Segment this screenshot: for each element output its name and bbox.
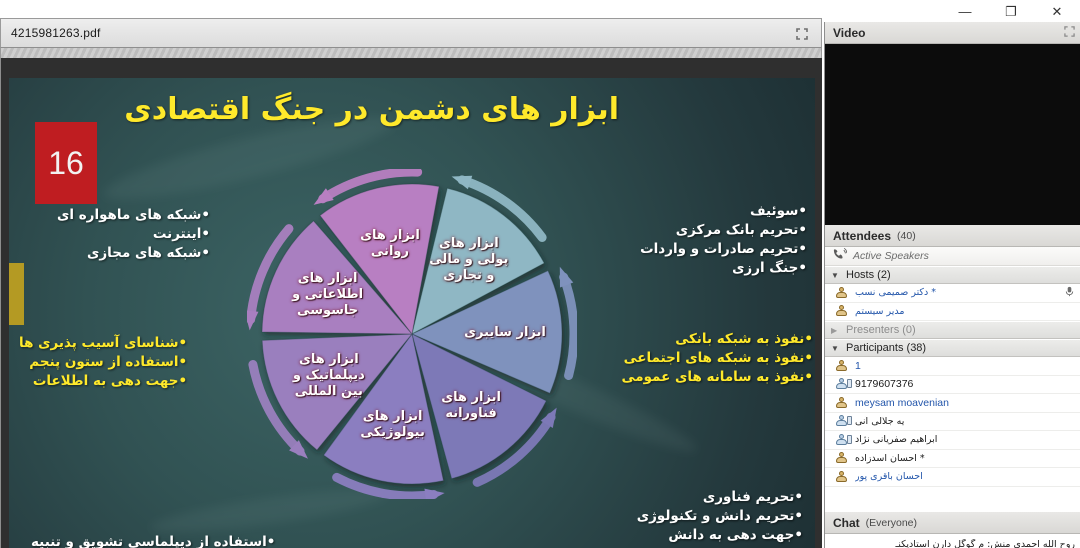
pdf-viewport: 16 ابزار های دشمن در جنگ اقتصادی •سوئیف … [0, 58, 822, 548]
active-speakers-icon [833, 248, 847, 264]
note-line: •نفوذ به سامانه های عمومی [622, 368, 813, 387]
slide-title: ابزار های دشمن در جنگ اقتصادی [199, 92, 619, 127]
wheel-arrow-head [247, 310, 258, 330]
active-speakers-label: Active Speakers [853, 250, 929, 262]
chat-pod-header: Chat (Everyone) [825, 512, 1080, 534]
note-bottom-right: •تحریم فناوری •تحریم دانش و تکنولوژی •جه… [637, 488, 803, 545]
note-middle-right: •نفوذ به شبکه بانکی •نفوذ به شبکه های اج… [622, 330, 813, 387]
pdf-filename: 4215981263.pdf [1, 26, 101, 40]
active-speakers-row[interactable]: Active Speakers [825, 247, 1080, 266]
participant-icon [835, 452, 848, 464]
wheel-segment-label: ابزار هایبیولوژیکی [347, 409, 439, 441]
note-top-left: •شبکه های ماهواره ای •اینترنت •شبکه های … [57, 206, 210, 263]
attendee-group-label: Presenters (0) [846, 324, 916, 336]
participant-icon [835, 397, 848, 409]
wheel-segment-label: ابزار هایروانی [344, 228, 436, 260]
wheel-segment-label: ابزار هایپولی و مالیو تجاری [423, 236, 515, 284]
note-line: •تحریم صادرات و واردات [640, 240, 807, 259]
host-icon [835, 305, 848, 317]
note-line: •استفاده از ستون پنجم [19, 353, 187, 372]
note-line: •شبکه های ماهواره ای [57, 206, 210, 225]
note-bottom-left: •استفاده از دیپلماسی تشویق و تنبیه •وادا… [31, 533, 275, 548]
attendee-row[interactable]: احسان باقری پور [825, 468, 1080, 487]
attendee-name: 9179607376 [855, 378, 913, 390]
slide-page-badge: 16 [35, 122, 97, 204]
video-stage[interactable] [825, 44, 1080, 225]
note-middle-left: •شناسای آسیب پذیری ها •استفاده از ستون پ… [19, 334, 187, 391]
participant-icon [835, 471, 848, 483]
slide-canvas: 16 ابزار های دشمن در جنگ اقتصادی •سوئیف … [9, 78, 815, 548]
note-top-right: •سوئیف •تحریم بانک مرکزی •تحریم صادرات و… [640, 202, 807, 278]
note-line: •تحریم فناوری [637, 488, 803, 507]
attendee-group-header-hosts[interactable]: ▼Hosts (2) [825, 266, 1080, 284]
wheel-arrow-head [560, 267, 573, 288]
note-line: •تحریم بانک مرکزی [640, 221, 807, 240]
note-line: •شناسای آسیب پذیری ها [19, 334, 187, 353]
wheel-segment-label: ابزار هایفناورانه [425, 390, 517, 422]
attendee-row[interactable]: ابراهیم صفریانی نژاد [825, 431, 1080, 450]
attendee-row[interactable]: * احسان اسدزاده [825, 450, 1080, 469]
chevron-right-icon[interactable]: ▶ [831, 326, 840, 335]
chat-pod-title: Chat [833, 516, 860, 530]
application-root: — ❐ ✕ 4215981263.pdf 16 ابزار های دشمن د… [0, 0, 1080, 548]
attendee-name: مدیر سیستم [855, 306, 904, 317]
attendees-list[interactable]: Active Speakers ▼Hosts (2)* دکتر صمیمی ن… [825, 247, 1080, 512]
note-line: •جهت دهی به اطلاعات [19, 372, 187, 391]
minimize-window-button[interactable]: — [942, 0, 988, 22]
attendees-count: (40) [897, 230, 916, 242]
note-line: •شبکه های مجازی [57, 244, 210, 263]
attendee-group-header-participants[interactable]: ▼Participants (38) [825, 339, 1080, 357]
attendees-pod-title: Attendees [833, 229, 891, 243]
attendee-group-label: Hosts (2) [846, 269, 891, 281]
attendee-row[interactable]: 9179607376 [825, 376, 1080, 395]
right-pods-column: Video Attendees (40) [824, 22, 1080, 548]
note-line: •نفوذ به شبکه های اجتماعی [622, 349, 813, 368]
share-pdf-panel: 4215981263.pdf 16 ابزار های دشمن در جنگ … [0, 18, 822, 548]
wheel-segment-label: ابزار هایدیپلماتیک وبین المللی [283, 352, 375, 400]
note-line: •سوئیف [640, 202, 807, 221]
attendee-name: یه جلالی آنی [855, 416, 904, 427]
note-line: •تحریم دانش و تکنولوژی [637, 507, 803, 526]
attendee-name: * احسان اسدزاده [855, 453, 925, 464]
chat-message-list[interactable]: روح الله احمدی منش: م گوگل دارن استادیکن… [825, 534, 1080, 548]
video-pod: Video [825, 22, 1080, 225]
pdf-titlebar: 4215981263.pdf [0, 18, 822, 48]
note-line: •نفوذ به شبکه بانکی [622, 330, 813, 349]
attendees-pod: Attendees (40) Active Speakers ▼Hosts (2… [825, 225, 1080, 512]
chevron-down-icon[interactable]: ▼ [831, 271, 840, 280]
note-line: •جنگ ارزی [640, 259, 807, 278]
attendee-row[interactable]: یه جلالی آنی [825, 413, 1080, 432]
video-pod-title: Video [833, 26, 865, 40]
attendee-row[interactable]: * دکتر صمیمی نسب [825, 284, 1080, 303]
chevron-down-icon[interactable]: ▼ [831, 344, 840, 353]
wheel-flow-arrow [564, 277, 574, 375]
chat-message: روح الله احمدی منش: م گوگل دارن استادیکن… [831, 539, 1075, 548]
attendee-group-label: Participants (38) [846, 342, 926, 354]
note-line: •جهت دهی به دانش [637, 526, 803, 545]
minimize-pod-icon[interactable] [1064, 26, 1075, 40]
host-icon [835, 287, 848, 299]
attendee-name: ابراهیم صفریانی نژاد [855, 434, 937, 445]
pdf-toolbar-stripe [0, 48, 822, 58]
wheel-arrow-head [452, 176, 473, 189]
slide-side-tab [9, 263, 24, 325]
attendee-row[interactable]: 1 [825, 357, 1080, 376]
maximize-window-button[interactable]: ❐ [988, 0, 1034, 22]
microphone-icon[interactable] [1064, 286, 1075, 300]
wheel-segment-label: ابزار هایاطلاعاتی وجاسوسی [282, 271, 374, 319]
chat-scope: (Everyone) [866, 517, 917, 529]
attendee-row[interactable]: مدیر سیستم [825, 303, 1080, 322]
tools-wheel-diagram: ابزار هایپولی و مالیو تجاریابزار سایبریا… [247, 169, 577, 499]
attendee-group-header-presenters[interactable]: ▶Presenters (0) [825, 321, 1080, 339]
attendee-name: * دکتر صمیمی نسب [855, 287, 936, 298]
close-window-button[interactable]: ✕ [1034, 0, 1080, 22]
wheel-segment-label: ابزار سایبری [459, 325, 551, 341]
participant-phone-icon [835, 434, 848, 446]
note-line: •استفاده از دیپلماسی تشویق و تنبیه [31, 533, 275, 548]
participant-phone-icon [835, 415, 848, 427]
participant-phone-icon [835, 378, 848, 390]
attendee-name: 1 [855, 360, 861, 372]
window-controls: — ❐ ✕ [824, 0, 1080, 22]
video-pod-header: Video [825, 22, 1080, 44]
attendees-pod-header: Attendees (40) [825, 225, 1080, 247]
expand-icon[interactable] [789, 23, 815, 45]
attendee-row[interactable]: meysam moavenian [825, 394, 1080, 413]
chat-pod: Chat (Everyone) روح الله احمدی منش: م گو… [825, 512, 1080, 548]
note-line: •اینترنت [57, 225, 210, 244]
attendee-name: احسان باقری پور [855, 471, 923, 482]
attendee-name: meysam moavenian [855, 397, 949, 409]
participant-icon [835, 360, 848, 372]
